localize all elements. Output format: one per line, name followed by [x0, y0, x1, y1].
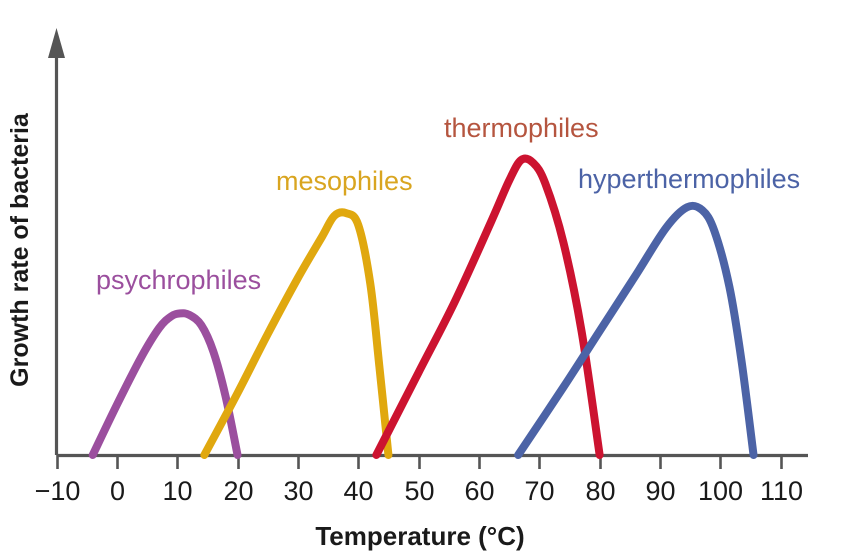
x-axis-tick-label: 90 [645, 476, 675, 506]
x-axis-tick-labels: −100102030405060708090100110 [35, 476, 803, 506]
x-axis-title: Temperature (°C) [315, 521, 524, 551]
x-axis-tick-label: 10 [162, 476, 192, 506]
x-axis-tick-label: 70 [524, 476, 554, 506]
x-axis-tick-label: 30 [283, 476, 313, 506]
series-label-mesophiles: mesophiles [276, 166, 413, 196]
y-axis-title: Growth rate of bacteria [6, 112, 34, 387]
series-label-psychrophiles: psychrophiles [96, 265, 261, 295]
x-axis-tick-label: 80 [585, 476, 615, 506]
y-axis-arrow-icon [48, 28, 65, 58]
curve-thermophiles [376, 159, 599, 455]
x-axis-tick-label: −10 [35, 476, 81, 506]
growth-rate-vs-temperature-chart: −100102030405060708090100110 psychrophil… [0, 0, 858, 556]
series-curves [93, 159, 754, 455]
x-axis-tick-label: 60 [464, 476, 494, 506]
x-axis-tick-label: 20 [223, 476, 253, 506]
x-axis-tick-label: 40 [343, 476, 373, 506]
chart-canvas: −100102030405060708090100110 psychrophil… [0, 0, 858, 556]
x-axis-tick-label: 110 [760, 476, 803, 506]
series-label-hyperthermophiles: hyperthermophiles [578, 164, 800, 194]
x-axis-tick-label: 100 [698, 476, 743, 506]
x-axis-tick-label: 50 [404, 476, 434, 506]
x-axis-tick-label: 0 [110, 476, 125, 506]
series-label-thermophiles: thermophiles [444, 113, 599, 143]
curve-hyperthermophiles [518, 206, 753, 455]
y-axis [48, 28, 65, 455]
